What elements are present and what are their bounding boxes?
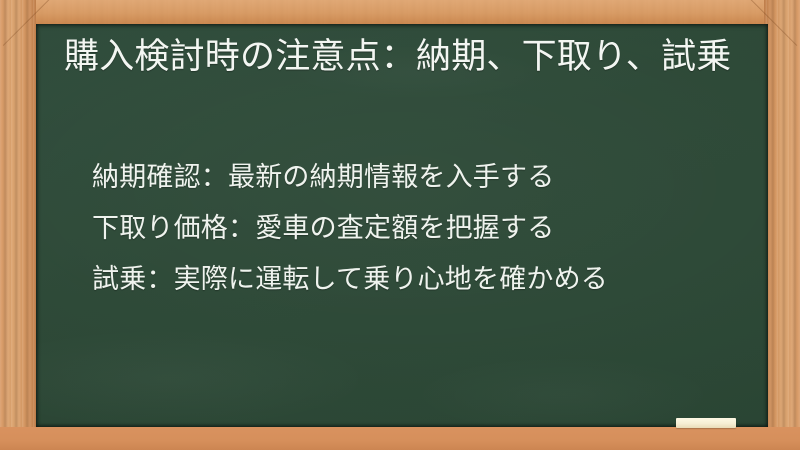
bullet-list: 納期確認：最新の納期情報を入手する 下取り価格：愛車の査定額を把握する 試乗：実… — [92, 152, 742, 305]
slide-title: 購入検討時の注意点：納期、下取り、試乗 — [64, 36, 752, 79]
chalk-stick-icon — [676, 418, 736, 428]
frame-bottom-ledge — [0, 427, 800, 450]
chalkboard-slide: 購入検討時の注意点：納期、下取り、試乗 納期確認：最新の納期情報を入手する 下取… — [0, 0, 800, 450]
frame-right-rail — [764, 0, 800, 450]
slide-content: 購入検討時の注意点：納期、下取り、試乗 納期確認：最新の納期情報を入手する 下取… — [36, 24, 768, 427]
frame-left-rail — [0, 0, 36, 450]
bullet-item-1: 納期確認：最新の納期情報を入手する — [92, 152, 742, 203]
frame-top-rail — [0, 0, 800, 24]
bullet-item-3: 試乗：実際に運転して乗り心地を確かめる — [92, 254, 742, 305]
bullet-item-2: 下取り価格：愛車の査定額を把握する — [92, 203, 742, 254]
chalkboard-surface: 購入検討時の注意点：納期、下取り、試乗 納期確認：最新の納期情報を入手する 下取… — [36, 24, 768, 427]
